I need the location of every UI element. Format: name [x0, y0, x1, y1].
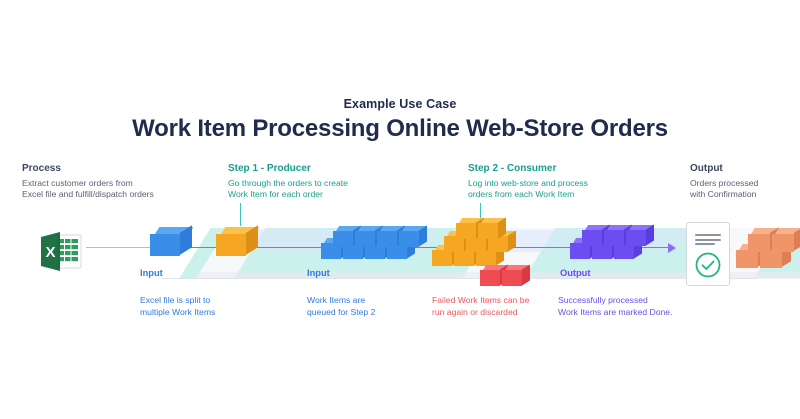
caption-step-1: Step 1 - Producer Go through the orders …: [228, 163, 403, 200]
caption-process-title: Process: [22, 163, 197, 175]
doc-text-line: [695, 243, 715, 245]
caption-output: Output Orders processed with Confirmatio…: [690, 163, 800, 200]
caption-output-title: Output: [690, 163, 800, 175]
green-check-icon: [694, 251, 722, 279]
caption-step-2: Step 2 - Consumer Log into web-store and…: [468, 163, 648, 200]
isometric-platform: Input Input Output: [0, 206, 800, 296]
flow-line-gray: [86, 247, 154, 248]
doc-text-line: [695, 239, 721, 241]
caption-step-2-title: Step 2 - Consumer: [468, 163, 648, 175]
caption-output-line1: Orders processed: [690, 178, 800, 189]
platform-label-input-1: Input: [140, 268, 163, 278]
page-title: Work Item Processing Online Web-Store Or…: [0, 115, 800, 143]
caption-step-2-line2: orders from each Work Item: [468, 189, 648, 200]
confirmation-document-icon: [686, 222, 730, 286]
bottom-caption-excel-split-line1: Excel file is split to: [140, 295, 290, 307]
caption-process-line2: Excel file and fulfill/dispatch orders: [22, 189, 197, 200]
bottom-caption-done-line2: Work Items are marked Done.: [558, 307, 728, 319]
caption-step-1-line1: Go through the orders to create: [228, 178, 403, 189]
caption-step-2-line1: Log into web-store and process: [468, 178, 648, 189]
bottom-caption-done: Successfully processed Work Items are ma…: [558, 295, 728, 318]
diagram-canvas: Example Use Case Work Item Processing On…: [0, 0, 800, 419]
caption-step-1-title: Step 1 - Producer: [228, 163, 403, 175]
doc-text-line: [695, 234, 721, 236]
bottom-caption-excel-split: Excel file is split to multiple Work Ite…: [140, 295, 290, 318]
caption-process-line1: Extract customer orders from: [22, 178, 197, 189]
caption-process: Process Extract customer orders from Exc…: [22, 163, 197, 200]
platform-edge-front: [162, 278, 757, 279]
bottom-caption-done-line1: Successfully processed: [558, 295, 728, 307]
platform-label-input-2: Input: [307, 268, 330, 278]
platform-label-output: Output: [560, 268, 590, 278]
caption-output-line2: with Confirmation: [690, 189, 800, 200]
caption-step-1-line2: Work Item for each order: [228, 189, 403, 200]
flow-arrow-icon: [668, 243, 676, 253]
excel-file-icon: X: [38, 230, 84, 274]
bottom-caption-excel-split-line2: multiple Work Items: [140, 307, 290, 319]
eyebrow-label: Example Use Case: [0, 97, 800, 111]
svg-text:X: X: [45, 244, 55, 261]
